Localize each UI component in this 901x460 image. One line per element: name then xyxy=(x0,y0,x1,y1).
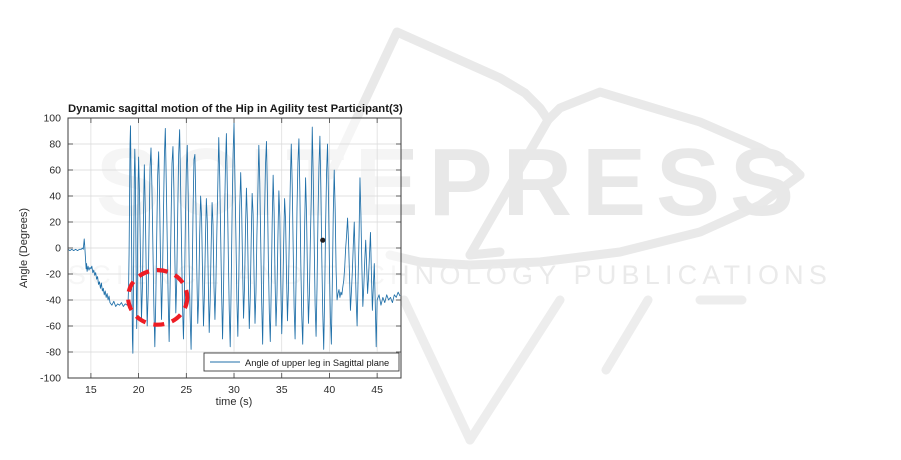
matlab-figure: -100-80-60-40-20020406080100 15202530354… xyxy=(0,0,460,460)
svg-text:60: 60 xyxy=(49,165,61,177)
svg-text:15: 15 xyxy=(85,384,97,396)
legend[interactable]: Angle of upper leg in Sagittal plane xyxy=(204,353,399,371)
hip-sagittal-angle-chart: -100-80-60-40-20020406080100 15202530354… xyxy=(0,0,460,460)
legend-label: Angle of upper leg in Sagittal plane xyxy=(245,358,389,368)
svg-text:80: 80 xyxy=(49,139,61,151)
y-axis-label: Angle (Degrees) xyxy=(18,208,30,288)
svg-text:30: 30 xyxy=(228,384,240,396)
svg-text:-20: -20 xyxy=(46,269,61,281)
svg-text:20: 20 xyxy=(49,217,61,229)
black-dot-marker xyxy=(320,238,325,243)
svg-text:100: 100 xyxy=(43,113,61,125)
svg-text:0: 0 xyxy=(55,243,61,255)
svg-text:40: 40 xyxy=(49,191,61,203)
svg-text:-40: -40 xyxy=(46,295,61,307)
svg-text:40: 40 xyxy=(324,384,336,396)
page-root: SCITEPRESS SCIENCE AND TECHNOLOGY PUBLIC… xyxy=(0,0,901,460)
svg-text:-100: -100 xyxy=(40,373,61,385)
svg-text:25: 25 xyxy=(180,384,192,396)
x-tick-labels: 15202530354045 xyxy=(85,384,383,396)
svg-text:-60: -60 xyxy=(46,321,61,333)
chart-title: Dynamic sagittal motion of the Hip in Ag… xyxy=(68,103,403,115)
svg-text:45: 45 xyxy=(371,384,383,396)
svg-text:20: 20 xyxy=(133,384,145,396)
svg-text:35: 35 xyxy=(276,384,288,396)
svg-text:-80: -80 xyxy=(46,347,61,359)
y-tick-labels: -100-80-60-40-20020406080100 xyxy=(40,113,61,385)
x-axis-label: time (s) xyxy=(216,396,253,408)
